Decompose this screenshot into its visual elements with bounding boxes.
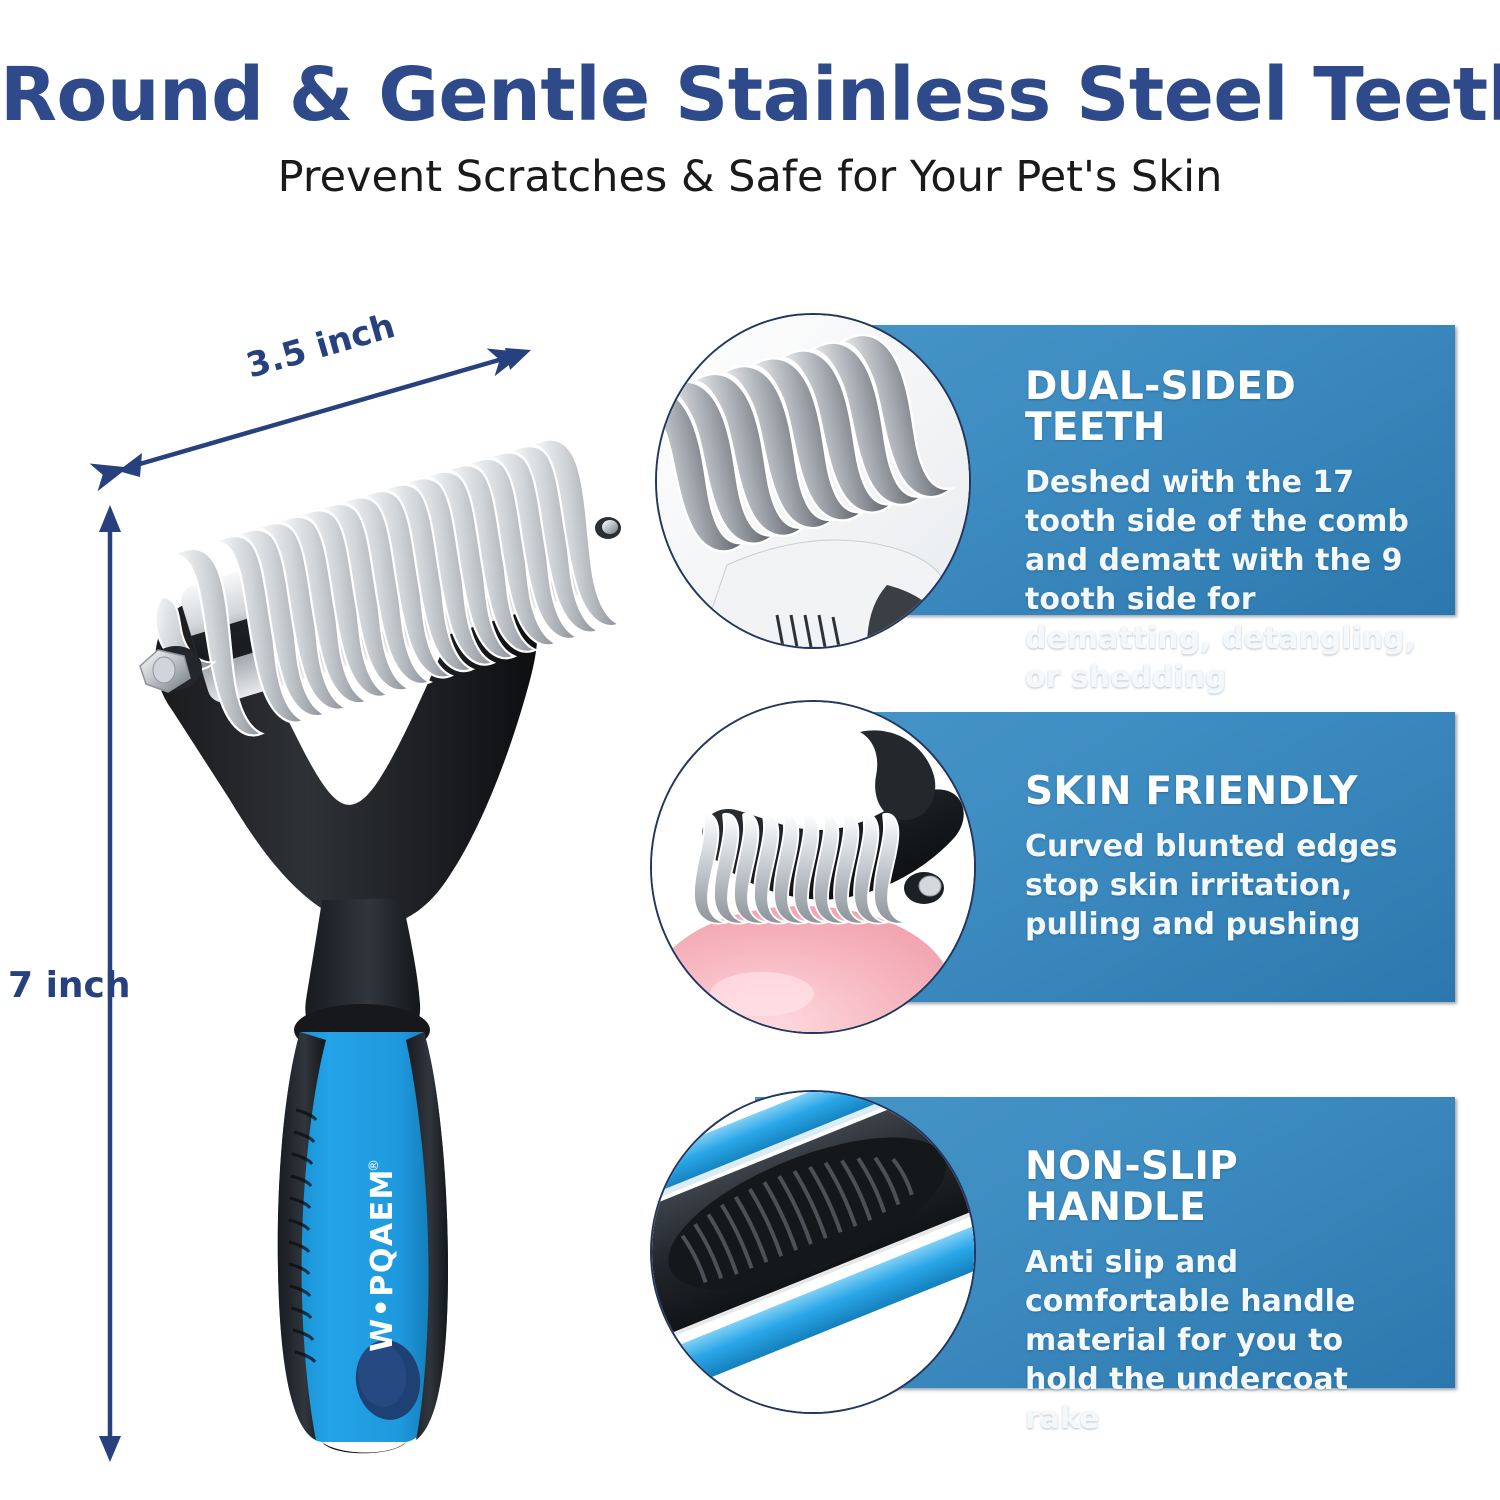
feature-title-1: DUAL-SIDED TEETH [1025, 367, 1425, 449]
feature-title-3: NON-SLIP HANDLE [1025, 1147, 1425, 1229]
inset-handle-grip-closeup [650, 1090, 976, 1414]
feature-body-1: Deshed with the 17 tooth side of the com… [1025, 463, 1425, 697]
feature-body-3: Anti slip and comfortable handle materia… [1025, 1243, 1425, 1438]
brand-text: W•PQAEM [365, 1168, 400, 1352]
pivot-bolt-inset [904, 872, 944, 904]
pivot-bolt-right [595, 517, 621, 539]
inset-comb-teeth-closeup [655, 313, 971, 649]
registered-mark: ® [367, 1159, 382, 1172]
inset-rake-on-skin-closeup [650, 700, 976, 1034]
width-dimension-label: 3.5 inch [242, 306, 399, 386]
product-image-undercoat-rake: W•PQAEM ® [110, 380, 670, 1460]
infographic-canvas: Round & Gentle Stainless Steel Teeth Pre… [0, 0, 1500, 1500]
feature-title-2: SKIN FRIENDLY [1025, 772, 1425, 813]
brand-logo: W•PQAEM ® [365, 1159, 400, 1352]
feature-body-2: Curved blunted edges stop skin irritatio… [1025, 827, 1425, 944]
page-subtitle: Prevent Scratches & Safe for Your Pet's … [0, 152, 1500, 202]
page-title: Round & Gentle Stainless Steel Teeth [0, 52, 1500, 138]
